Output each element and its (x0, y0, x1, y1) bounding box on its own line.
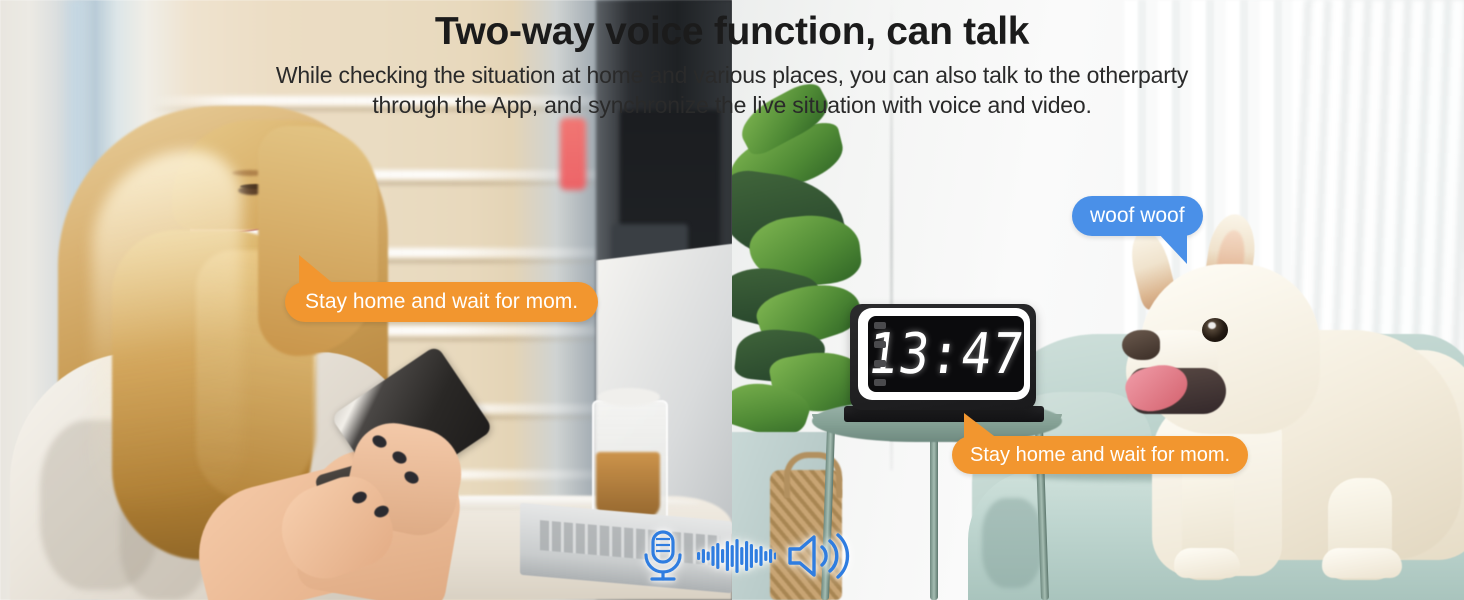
sound-wave-bar (740, 547, 743, 565)
sound-wave-bar (750, 544, 753, 568)
speech-bubble-dog-text: woof woof (1090, 204, 1185, 228)
dog-nose (1122, 330, 1160, 360)
speech-bubble-dog: woof woof (1072, 196, 1203, 236)
clock-time-text: 13:47 (865, 326, 1027, 382)
sound-wave-bar (735, 539, 738, 573)
sound-wave-bar (711, 546, 714, 566)
sound-wave-bar (726, 541, 729, 571)
speech-bubble-woman-text: Stay home and wait for mom. (305, 290, 578, 314)
sound-wave-bar (769, 549, 772, 563)
page-title: Two-way voice function, can talk (0, 10, 1464, 54)
sound-wave-icon (696, 533, 776, 579)
sound-wave-bar (707, 552, 710, 561)
page-subtitle: While checking the situation at home and… (232, 60, 1232, 121)
clock-indicator-icons (874, 322, 888, 386)
speech-bubble-woman: Stay home and wait for mom. (285, 282, 598, 322)
sound-wave-bar (745, 541, 748, 571)
speaker-icon (786, 531, 852, 581)
sound-wave-bar (764, 551, 767, 561)
sound-wave-bar (759, 546, 762, 566)
microphone-icon (640, 528, 686, 584)
subtitle-line-2: through the App, and synchronize the liv… (232, 90, 1232, 120)
clock-display: 13:47 (868, 316, 1024, 392)
sound-wave-bar (755, 549, 758, 563)
sound-wave-bar (774, 553, 776, 560)
speech-bubble-device-text: Stay home and wait for mom. (970, 444, 1230, 467)
sound-wave-bar (721, 549, 724, 563)
promo-banner: 13:47 Two-way voice function, can talk W… (0, 0, 1464, 600)
sound-wave-bar (716, 543, 719, 569)
bubble-tail-icon (1157, 232, 1187, 264)
audio-icon-row (640, 528, 852, 584)
sound-wave-bar (702, 549, 705, 563)
bubble-tail-icon (964, 413, 998, 439)
dog-eye (1202, 318, 1228, 342)
speech-bubble-device: Stay home and wait for mom. (952, 436, 1248, 474)
subtitle-line-1: While checking the situation at home and… (232, 60, 1232, 90)
bubble-tail-icon (299, 255, 335, 285)
sound-wave-bar (731, 545, 734, 567)
sound-wave-bar (697, 552, 700, 560)
